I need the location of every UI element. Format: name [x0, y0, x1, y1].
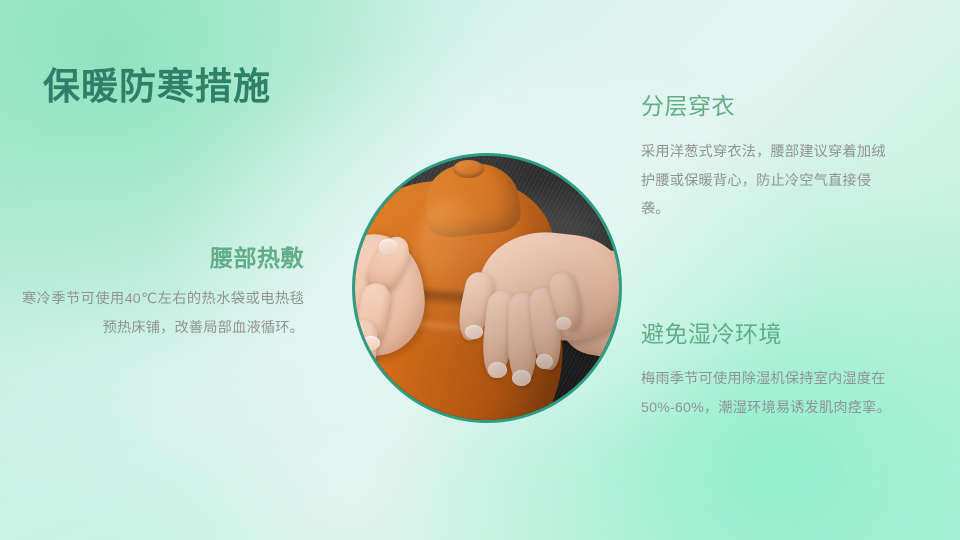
photo-right-hand-nail-4: [536, 354, 553, 369]
block-right-bottom-body: 梅雨季节可使用除湿机保持室内湿度在50%-60%，潮湿环境易诱发肌肉痉挛。: [641, 365, 899, 423]
photo-left-hand-nail-1: [379, 239, 397, 254]
content-block-left: 腰部热敷 寒冷季节可使用40℃左右的热水袋或电热毯预热床铺，改善局部血液循环。: [22, 244, 304, 342]
photo-right-hand-nail-2: [488, 362, 506, 378]
slide-canvas: 保暖防寒措施 腰部热敷 寒冷季节可使用40℃左右的热水袋或电热毯预热床铺，改善局…: [0, 0, 960, 540]
photo-left-hand-nail-2: [362, 336, 380, 351]
block-right-top-body: 采用洋葱式穿衣法，腰部建议穿着加绒护腰或保暖背心，防止冷空气直接侵袭。: [641, 138, 899, 224]
content-block-right-top: 分层穿衣 采用洋葱式穿衣法，腰部建议穿着加绒护腰或保暖背心，防止冷空气直接侵袭。: [641, 92, 899, 224]
page-title: 保暖防寒措施: [43, 66, 271, 107]
photo-right-hand-nail-3: [512, 370, 530, 386]
block-left-body: 寒冷季节可使用40℃左右的热水袋或电热毯预热床铺，改善局部血液循环。: [22, 285, 304, 343]
block-right-top-heading: 分层穿衣: [641, 92, 899, 121]
circular-photo: [352, 153, 622, 423]
block-left-heading: 腰部热敷: [22, 244, 304, 273]
photo-image-hot-water-bottle: [355, 156, 619, 420]
content-block-right-bottom: 避免湿冷环境 梅雨季节可使用除湿机保持室内湿度在50%-60%，潮湿环境易诱发肌…: [641, 320, 899, 422]
block-right-bottom-heading: 避免湿冷环境: [641, 320, 899, 349]
